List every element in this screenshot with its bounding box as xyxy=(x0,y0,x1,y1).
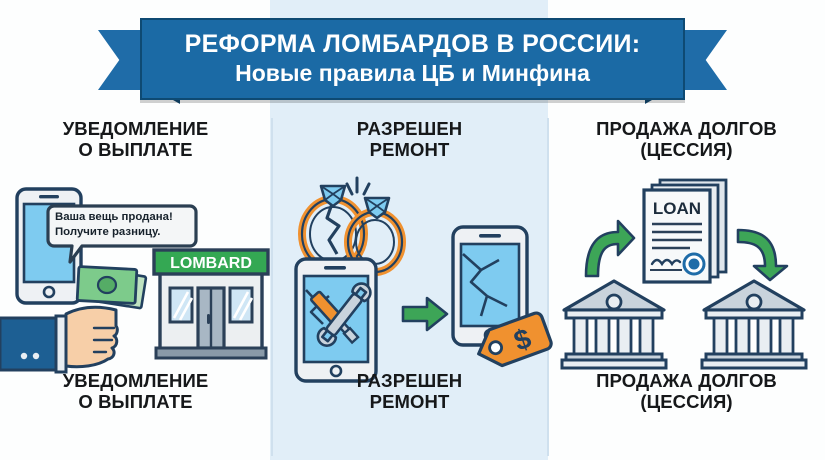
page-title-line1: РЕФОРМА ЛОМБАРДОВ В РОССИИ: xyxy=(185,31,641,57)
column-1-caption-bottom: УВЕДОМЛЕНИЕ О ВЫПЛАТЕ xyxy=(0,370,271,412)
curved-arrow-right-icon xyxy=(736,218,792,280)
column-3-artwork: LOAN xyxy=(548,174,825,382)
column-2-caption-bottom: РАЗРЕШЕН РЕМОНТ xyxy=(271,370,548,412)
column-1-caption-top: УВЕДОМЛЕНИЕ О ВЫПЛАТЕ xyxy=(0,118,271,160)
hand-with-money-icon xyxy=(0,266,160,372)
column-payout-notice: УВЕДОМЛЕНИЕ О ВЫПЛАТЕ Ваша вещь продана!… xyxy=(0,112,271,460)
sms-line-1: Ваша вещь продана! xyxy=(55,210,195,225)
pawnshop-building-icon: LOMBARD xyxy=(152,238,270,366)
columns-container: УВЕДОМЛЕНИЕ О ВЫПЛАТЕ Ваша вещь продана!… xyxy=(0,112,825,460)
bank-building-icon xyxy=(700,278,808,370)
column-2-artwork: $ xyxy=(271,174,548,382)
column-3-caption-top: ПРОДАЖА ДОЛГОВ (ЦЕССИЯ) xyxy=(548,118,825,160)
ribbon-banner: РЕФОРМА ЛОМБАРДОВ В РОССИИ: Новые правил… xyxy=(140,18,685,100)
curved-arrow-left-icon xyxy=(580,218,636,280)
column-3-caption-bottom: ПРОДАЖА ДОЛГОВ (ЦЕССИЯ) xyxy=(548,370,825,412)
title-ribbon: РЕФОРМА ЛОМБАРДОВ В РОССИИ: Новые правил… xyxy=(0,18,825,110)
infographic-canvas: РЕФОРМА ЛОМБАРДОВ В РОССИИ: Новые правил… xyxy=(0,0,825,460)
column-repair-allowed: РАЗРЕШЕН РЕМОНТ xyxy=(271,112,548,460)
column-2-caption-top: РАЗРЕШЕН РЕМОНТ xyxy=(271,118,548,160)
bank-building-icon xyxy=(560,278,668,370)
shop-sign-text: LOMBARD xyxy=(170,255,252,272)
column-1-artwork: Ваша вещь продана! Получите разницу. xyxy=(0,174,271,382)
repaired-phone-with-price-tag-icon: $ xyxy=(441,224,561,374)
page-title-line2: Новые правила ЦБ и Минфина xyxy=(235,60,590,86)
sms-text: Ваша вещь продана! Получите разницу. xyxy=(55,210,195,240)
column-debt-sale: ПРОДАЖА ДОЛГОВ (ЦЕССИЯ) LOAN xyxy=(548,112,825,460)
cracked-phone-with-tools-icon xyxy=(293,256,383,384)
loan-document-title: LOAN xyxy=(653,199,701,218)
